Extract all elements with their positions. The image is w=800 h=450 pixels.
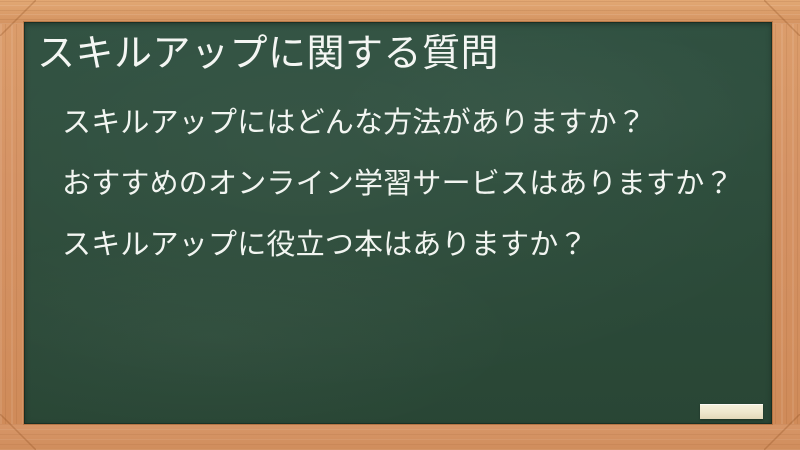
question-list: スキルアップにはどんな方法がありますか？ おすすめのオンライン学習サービスはあり… (62, 104, 770, 264)
chalk-eraser-icon (700, 404, 763, 419)
list-item: スキルアップにはどんな方法がありますか？ (62, 104, 770, 142)
frame-bottom-rail (0, 424, 800, 450)
chalkboard-surface: スキルアップに関する質問 スキルアップにはどんな方法がありますか？ おすすめのオ… (24, 22, 772, 424)
frame-top-rail (0, 0, 800, 24)
list-item: おすすめのオンライン学習サービスはありますか？ (62, 165, 770, 203)
list-item: スキルアップに役立つ本はありますか？ (62, 226, 770, 264)
page-title: スキルアップに関する質問 (37, 30, 757, 76)
chalkboard-slide: スキルアップに関する質問 スキルアップにはどんな方法がありますか？ おすすめのオ… (0, 0, 800, 450)
